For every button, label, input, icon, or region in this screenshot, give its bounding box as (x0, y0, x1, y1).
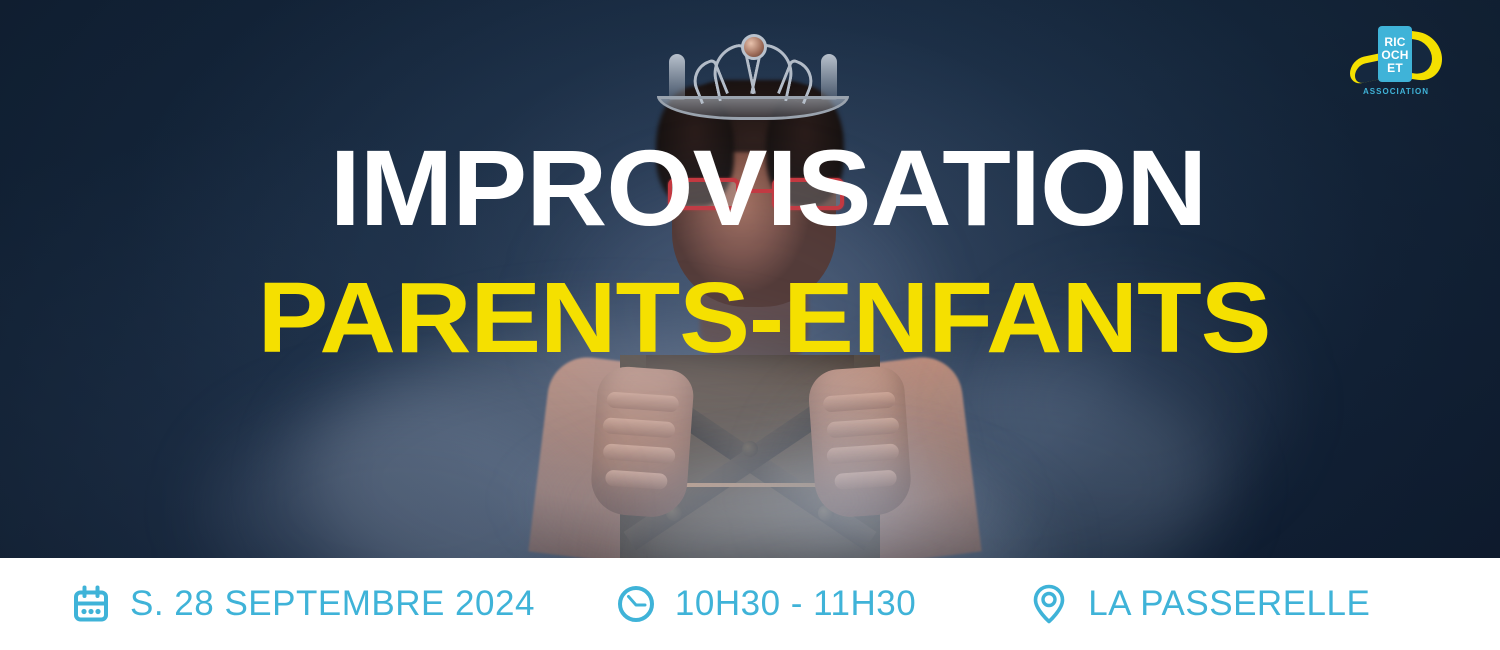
logo-text-line1: RIC (1384, 36, 1405, 49)
logo-text-line2: OCH (1381, 49, 1408, 62)
event-date-label: S. 28 SEPTEMBRE 2024 (130, 584, 535, 624)
map-pin-icon (1028, 583, 1070, 625)
calendar-icon (70, 583, 112, 625)
clock-icon (615, 583, 657, 625)
event-time-item: 10H30 - 11H30 (615, 583, 916, 625)
event-time-label: 10H30 - 11H30 (675, 584, 916, 624)
event-info-bar: S. 28 SEPTEMBRE 2024 10H30 - 11H30 LA PA… (0, 558, 1500, 650)
event-date-item: S. 28 SEPTEMBRE 2024 (70, 583, 535, 625)
event-poster: IMPROVISATION PARENTS-ENFANTS RIC OCH ET… (0, 0, 1500, 650)
photo-vignette (0, 0, 1500, 558)
event-location-item: LA PASSERELLE (1028, 583, 1370, 625)
logo-text-line3: ET (1387, 62, 1403, 75)
logo-card: RIC OCH ET (1378, 26, 1412, 82)
event-location-label: LA PASSERELLE (1088, 584, 1370, 624)
hero-photo: IMPROVISATION PARENTS-ENFANTS RIC OCH ET… (0, 0, 1500, 558)
ricochet-logo[interactable]: RIC OCH ET ASSOCIATION (1350, 22, 1442, 94)
logo-subtitle: ASSOCIATION (1350, 87, 1442, 96)
